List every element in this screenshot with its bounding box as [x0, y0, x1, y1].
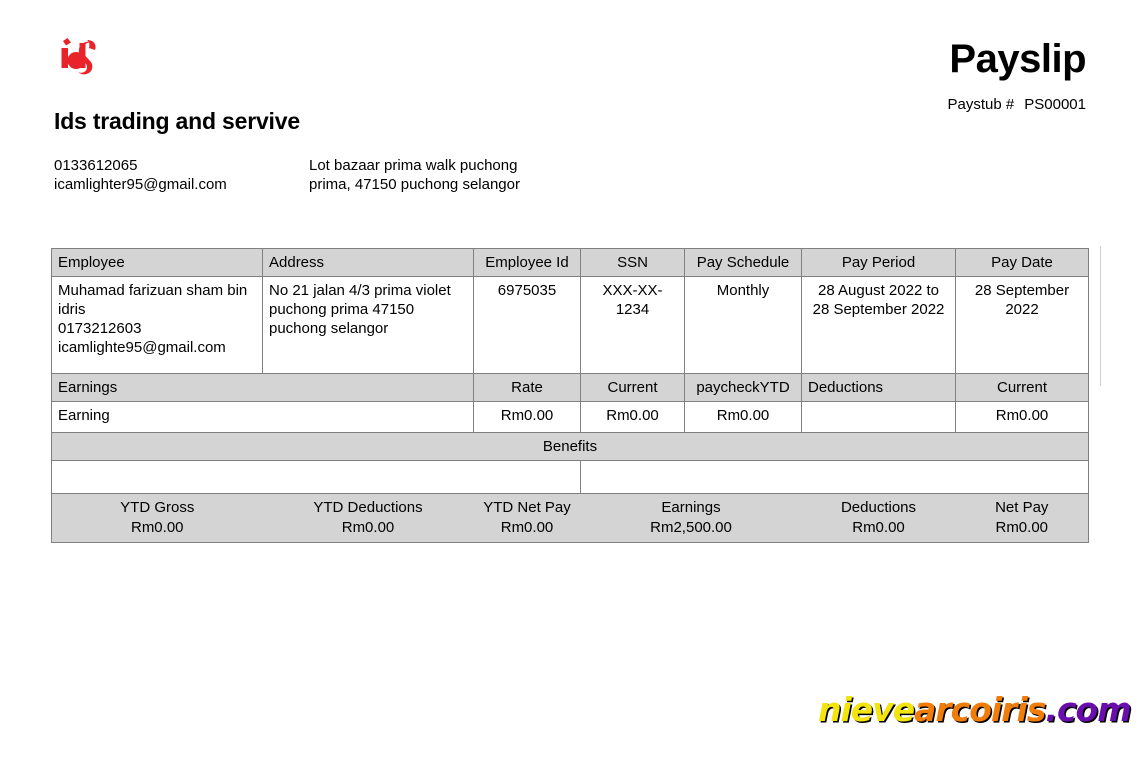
payslip-table: Employee Address Employee Id SSN Pay Sch…: [51, 248, 1089, 543]
summary-label: YTD Deductions: [269, 498, 468, 518]
site-watermark: nievearcoiris.com: [818, 690, 1131, 729]
cell-ded-current: Rm0.00: [956, 402, 1089, 433]
summary-value: Rm2,500.00: [587, 518, 796, 538]
summary-ytd-gross: YTD Gross Rm0.00: [52, 494, 263, 543]
col-header-ssn: SSN: [581, 249, 685, 277]
col-header-rate: Rate: [474, 374, 581, 402]
benefits-title: Benefits: [52, 433, 1089, 461]
benefits-header-row: Benefits: [52, 433, 1089, 461]
earnings-header-row: Earnings Rate Current paycheckYTD Deduct…: [52, 374, 1089, 402]
cell-earn-paycheckytd: Rm0.00: [685, 402, 802, 433]
watermark-part-com: .com: [1045, 690, 1130, 729]
earnings-data-row: Earning Rm0.00 Rm0.00 Rm0.00 Rm0.00: [52, 402, 1089, 433]
summary-value: Rm0.00: [269, 518, 468, 538]
col-header-pay-date: Pay Date: [956, 249, 1089, 277]
summary-label: Earnings: [587, 498, 796, 518]
col-header-employee-id: Employee Id: [474, 249, 581, 277]
col-header-earnings: Earnings: [52, 374, 474, 402]
cell-employee-id: 6975035: [474, 277, 581, 374]
info-header-row: Employee Address Employee Id SSN Pay Sch…: [52, 249, 1089, 277]
summary-value: Rm0.00: [808, 518, 950, 538]
page-title: Payslip: [949, 36, 1086, 82]
cell-ssn: XXX-XX-1234: [581, 277, 685, 374]
benefits-right-cell: [581, 461, 1089, 494]
company-name: Ids trading and servive: [54, 108, 300, 135]
ids-logo-icon: [54, 36, 100, 82]
company-email: icamlighter95@gmail.com: [54, 175, 227, 194]
summary-label: Deductions: [808, 498, 950, 518]
summary-net-pay: Net Pay Rm0.00: [956, 494, 1089, 543]
col-header-earn-paycheckytd: paycheckYTD: [685, 374, 802, 402]
col-header-pay-schedule: Pay Schedule: [685, 249, 802, 277]
cell-earnings-label: Earning: [52, 402, 474, 433]
col-header-employee: Employee: [52, 249, 263, 277]
company-address-line-1: Lot bazaar prima walk puchong: [309, 156, 520, 175]
company-phone: 0133612065: [54, 156, 227, 175]
cell-rate: Rm0.00: [474, 402, 581, 433]
summary-label: Net Pay: [962, 498, 1083, 518]
page-edge-divider: [1100, 246, 1101, 386]
benefits-blank-row: [52, 461, 1089, 494]
company-address-block: Lot bazaar prima walk puchong prima, 471…: [309, 156, 520, 194]
watermark-part-nieve: nieve: [818, 690, 914, 729]
paystub-label: Paystub #: [948, 96, 1015, 113]
company-address-line-2: prima, 47150 puchong selangor: [309, 175, 520, 194]
summary-ytd-net-pay: YTD Net Pay Rm0.00: [474, 494, 581, 543]
summary-deductions: Deductions Rm0.00: [802, 494, 956, 543]
cell-pay-period: 28 August 2022 to 28 September 2022: [802, 277, 956, 374]
cell-deductions-label: [802, 402, 956, 433]
summary-earnings: Earnings Rm2,500.00: [581, 494, 802, 543]
col-header-ded-current: Current: [956, 374, 1089, 402]
summary-value: Rm0.00: [58, 518, 257, 538]
col-header-earn-current: Current: [581, 374, 685, 402]
cell-pay-schedule: Monthly: [685, 277, 802, 374]
cell-pay-date: 28 September 2022: [956, 277, 1089, 374]
summary-value: Rm0.00: [962, 518, 1083, 538]
summary-ytd-deductions: YTD Deductions Rm0.00: [263, 494, 474, 543]
summary-row: YTD Gross Rm0.00 YTD Deductions Rm0.00 Y…: [52, 494, 1089, 543]
col-header-pay-period: Pay Period: [802, 249, 956, 277]
company-contact-block: 0133612065 icamlighter95@gmail.com: [54, 156, 227, 194]
summary-label: YTD Gross: [58, 498, 257, 518]
paystub-number-value: PS00001: [1024, 96, 1086, 113]
benefits-left-cell: [52, 461, 581, 494]
watermark-part-arcoiris: arcoiris: [914, 690, 1045, 729]
col-header-address: Address: [263, 249, 474, 277]
cell-employee: Muhamad farizuan sham bin idris 01732126…: [52, 277, 263, 374]
info-data-row: Muhamad farizuan sham bin idris 01732126…: [52, 277, 1089, 374]
summary-value: Rm0.00: [480, 518, 575, 538]
summary-label: YTD Net Pay: [480, 498, 575, 518]
cell-earn-current: Rm0.00: [581, 402, 685, 433]
paystub-number-line: Paystub #PS00001: [948, 96, 1086, 113]
cell-address: No 21 jalan 4/3 prima violet puchong pri…: [263, 277, 474, 374]
col-header-deductions: Deductions: [802, 374, 956, 402]
